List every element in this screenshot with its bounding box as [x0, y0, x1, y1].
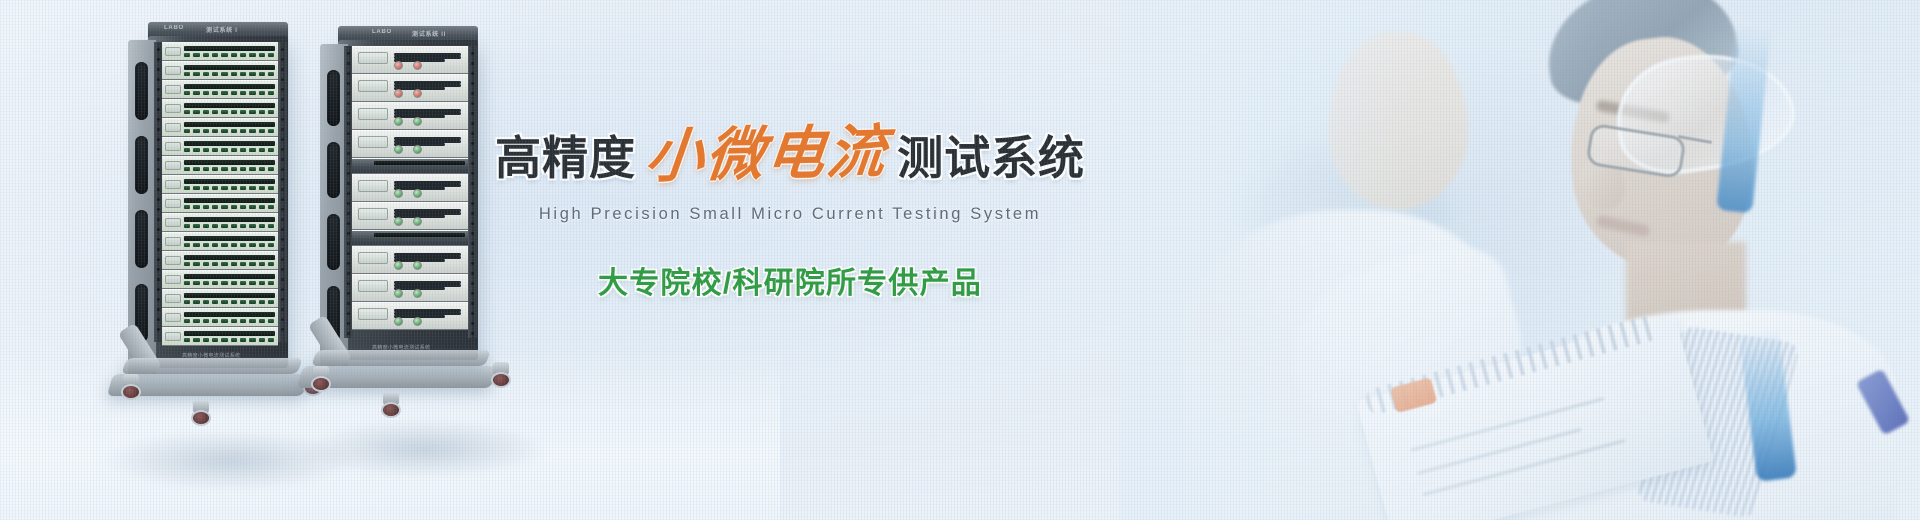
panel-display-strip — [184, 217, 274, 222]
panel-knob-row — [394, 89, 422, 98]
promotional-banner: LABO 测试系统 I — [0, 0, 1920, 520]
rail-hole — [281, 108, 284, 111]
panel-display-strip — [374, 161, 464, 165]
instrument-panel-meter — [352, 46, 468, 74]
rail-hole — [347, 52, 350, 55]
rack-vent-slot — [135, 62, 148, 120]
rail-hole — [281, 218, 284, 221]
rail-hole — [347, 82, 350, 85]
instrument-display-icon — [358, 208, 388, 220]
panel-display-strip — [184, 293, 274, 298]
caster-wheel — [191, 410, 211, 426]
instrument-panel-meter — [352, 74, 468, 102]
instrument-panel-blank — [352, 158, 468, 174]
rail-hole — [281, 128, 284, 131]
rail-hole — [347, 262, 350, 265]
instrument-panel — [162, 251, 278, 270]
instrument-display-icon — [165, 313, 180, 322]
headline-part-2-brush: 小微电流 — [643, 122, 891, 185]
rail-hole — [347, 152, 350, 155]
rail-hole — [347, 172, 350, 175]
rail-hole — [281, 148, 284, 151]
instrument-display-icon — [165, 199, 180, 208]
led-row — [184, 128, 274, 134]
instrument-panel — [162, 289, 278, 308]
panel-knob-row — [394, 117, 422, 126]
rail-hole — [157, 328, 160, 331]
rail-hole — [471, 172, 474, 175]
rail-hole — [281, 98, 284, 101]
banner-headline: 高精度 小微电流 测试系统 — [520, 125, 1060, 183]
instrument-panel-meter — [352, 130, 468, 158]
rail-hole — [157, 88, 160, 91]
rail-hole — [347, 92, 350, 95]
rail-hole — [281, 178, 284, 181]
rack-vent-slot — [327, 214, 340, 270]
rail-hole — [157, 298, 160, 301]
panel-display-strip — [184, 255, 274, 260]
rail-hole — [281, 278, 284, 281]
led-row — [184, 204, 274, 210]
rail-hole — [471, 302, 474, 305]
rail-hole — [281, 88, 284, 91]
instrument-panel — [162, 213, 278, 232]
instrument-panel — [162, 137, 278, 156]
instrument-display-icon — [358, 308, 388, 320]
rail-hole — [471, 152, 474, 155]
instrument-panel — [162, 232, 278, 251]
panel-display-strip — [184, 198, 274, 203]
panel-display-strip — [184, 312, 274, 317]
rail-hole — [347, 112, 350, 115]
rail-hole — [281, 78, 284, 81]
rail-hole — [347, 132, 350, 135]
instrument-display-icon — [358, 280, 388, 292]
rail-hole — [471, 192, 474, 195]
panel-display-strip — [184, 122, 274, 127]
rail-hole — [347, 222, 350, 225]
instrument-display-icon — [165, 218, 180, 227]
caster-wheel-icon — [188, 400, 214, 426]
rail-hole — [157, 208, 160, 211]
banner-text-block: 高精度 小微电流 测试系统 High Precision Small Micro… — [520, 125, 1060, 302]
rail-hole — [281, 288, 284, 291]
caster-wheel — [121, 384, 141, 400]
rail-hole — [471, 292, 474, 295]
rail-hole — [471, 82, 474, 85]
panel-display-strip — [184, 331, 274, 336]
rack-vent-slot — [327, 70, 340, 126]
rail-hole — [281, 328, 284, 331]
led-row — [184, 71, 274, 77]
rack-model-label: 测试系统 II — [412, 29, 446, 38]
rack-right-instruments: LABO 测试系统 II — [320, 26, 478, 436]
rail-hole — [471, 262, 474, 265]
instrument-display-icon — [165, 85, 180, 94]
caster-wheel — [381, 402, 401, 418]
rack-vent-slot — [327, 142, 340, 198]
banner-tagline-green: 大专院校/科研院所专供产品 — [520, 258, 1060, 302]
rail-hole — [471, 242, 474, 245]
instrument-display-icon — [165, 332, 180, 341]
instrument-display-icon — [358, 180, 388, 192]
rail-hole — [347, 232, 350, 235]
rail-hole — [281, 228, 284, 231]
headline-part-1: 高精度 — [495, 135, 636, 181]
instrument-panel — [162, 61, 278, 80]
rail-hole — [157, 258, 160, 261]
instrument-panel — [162, 270, 278, 289]
instrument-panel — [162, 308, 278, 327]
instrument-panel — [162, 327, 278, 346]
rail-hole — [347, 272, 350, 275]
instrument-display-icon — [358, 108, 388, 120]
instrument-display-icon — [165, 237, 180, 246]
rail-hole — [157, 168, 160, 171]
led-row — [184, 147, 274, 153]
rail-hole — [281, 58, 284, 61]
led-row — [184, 90, 274, 96]
rail-hole — [157, 98, 160, 101]
instrument-display-icon — [165, 294, 180, 303]
rail-hole — [347, 242, 350, 245]
instrument-panel — [162, 175, 278, 194]
led-row — [184, 280, 274, 286]
rail-hole — [347, 212, 350, 215]
rail-hole — [157, 48, 160, 51]
panel-display-strip — [184, 65, 274, 70]
panel-display-strip — [184, 103, 274, 108]
panel-knob-row — [394, 317, 422, 326]
rail-hole — [281, 298, 284, 301]
panel-knob-row — [394, 61, 422, 70]
rail-hole — [281, 248, 284, 251]
instrument-display-icon — [165, 142, 180, 151]
instrument-panel-blank — [352, 230, 468, 246]
rail-hole — [471, 212, 474, 215]
rack-mounting-rail — [278, 42, 287, 342]
caster-wheel — [491, 372, 511, 388]
caster-wheel-icon — [308, 366, 334, 392]
panel-knob-row — [394, 289, 422, 298]
caster-wheel-icon — [378, 392, 404, 418]
instrument-panel-meter — [352, 302, 468, 330]
rail-hole — [471, 72, 474, 75]
rail-hole — [347, 72, 350, 75]
panel-display-strip — [374, 233, 464, 237]
rail-hole — [347, 312, 350, 315]
led-row — [184, 337, 274, 343]
rail-hole — [471, 252, 474, 255]
rail-hole — [471, 322, 474, 325]
rail-hole — [157, 198, 160, 201]
rail-hole — [471, 102, 474, 105]
rack-mounting-rail — [468, 46, 477, 338]
led-row — [184, 109, 274, 115]
rail-hole — [281, 258, 284, 261]
panel-knob-row — [394, 145, 422, 154]
rail-hole — [471, 162, 474, 165]
panel-display-strip — [184, 160, 274, 165]
rack-base-rear — [311, 350, 491, 366]
rail-hole — [157, 148, 160, 151]
rail-hole — [157, 288, 160, 291]
rail-hole — [281, 268, 284, 271]
rail-hole — [281, 318, 284, 321]
rail-hole — [471, 132, 474, 135]
rail-hole — [157, 128, 160, 131]
led-row — [184, 185, 274, 191]
instrument-panel-meter — [352, 246, 468, 274]
rail-hole — [281, 208, 284, 211]
rail-hole — [157, 118, 160, 121]
rack-brand-label: LABO — [164, 25, 184, 31]
rail-hole — [157, 318, 160, 321]
rail-hole — [471, 92, 474, 95]
rail-hole — [157, 278, 160, 281]
caster-wheel — [311, 376, 331, 392]
rail-hole — [281, 188, 284, 191]
rail-hole — [347, 192, 350, 195]
instrument-panel — [162, 156, 278, 175]
rail-hole — [347, 332, 350, 335]
rail-hole — [347, 102, 350, 105]
instrument-panel — [162, 99, 278, 118]
rail-hole — [281, 68, 284, 71]
rail-hole — [471, 282, 474, 285]
instrument-display-icon — [358, 136, 388, 148]
panel-display-strip — [184, 141, 274, 146]
rail-hole — [157, 218, 160, 221]
rail-hole — [347, 322, 350, 325]
rail-hole — [157, 228, 160, 231]
rack-model-label: 测试系统 I — [206, 25, 238, 34]
panel-knob-row — [394, 217, 422, 226]
rail-hole — [347, 292, 350, 295]
led-row — [184, 318, 274, 324]
headline-part-3: 测试系统 — [897, 135, 1085, 181]
rail-hole — [471, 202, 474, 205]
rail-hole — [471, 312, 474, 315]
rail-hole — [281, 158, 284, 161]
rail-hole — [157, 138, 160, 141]
rail-hole — [347, 302, 350, 305]
panel-knob-row — [394, 261, 422, 270]
rail-hole — [347, 202, 350, 205]
rail-hole — [157, 248, 160, 251]
rail-hole — [281, 118, 284, 121]
rail-hole — [157, 178, 160, 181]
rail-hole — [347, 182, 350, 185]
rail-hole — [157, 58, 160, 61]
rail-hole — [347, 122, 350, 125]
instrument-panel — [162, 194, 278, 213]
led-row — [184, 242, 274, 248]
rail-hole — [471, 272, 474, 275]
rail-hole — [281, 48, 284, 51]
rail-hole — [347, 162, 350, 165]
rail-hole — [347, 142, 350, 145]
instrument-display-icon — [165, 256, 180, 265]
instrument-display-icon — [165, 66, 180, 75]
rail-hole — [347, 282, 350, 285]
instrument-panel — [162, 80, 278, 99]
instrument-panel-meter — [352, 202, 468, 230]
rail-hole — [157, 158, 160, 161]
rail-hole — [157, 238, 160, 241]
rack-brand-label: LABO — [372, 29, 392, 35]
rail-hole — [471, 122, 474, 125]
panel-display-strip — [184, 236, 274, 241]
rack-vent-slot — [135, 136, 148, 194]
rail-hole — [281, 198, 284, 201]
instrument-panel — [162, 118, 278, 137]
instrument-display-icon — [358, 52, 388, 64]
caster-wheel-icon — [488, 362, 514, 388]
instrument-panel-meter — [352, 102, 468, 130]
rail-hole — [471, 232, 474, 235]
instrument-display-icon — [165, 180, 180, 189]
rack-panel-stack — [162, 42, 278, 346]
rack-vent-slot — [135, 210, 148, 268]
caster-wheel-icon — [118, 374, 144, 400]
led-row — [184, 52, 274, 58]
led-row — [184, 261, 274, 267]
rack-base-rear — [121, 358, 303, 374]
led-row — [184, 166, 274, 172]
panel-display-strip — [184, 179, 274, 184]
rail-hole — [471, 112, 474, 115]
rack-panel-stack — [352, 46, 468, 330]
instrument-display-icon — [358, 252, 388, 264]
rail-hole — [471, 142, 474, 145]
banner-subtitle-english: High Precision Small Micro Current Testi… — [520, 205, 1060, 224]
rail-hole — [281, 138, 284, 141]
rail-hole — [471, 62, 474, 65]
rail-hole — [281, 168, 284, 171]
rail-hole — [157, 308, 160, 311]
rack-left-multichannel: LABO 测试系统 I — [128, 22, 288, 442]
rail-hole — [471, 182, 474, 185]
rail-hole — [347, 252, 350, 255]
rail-hole — [157, 268, 160, 271]
rail-hole — [157, 188, 160, 191]
rail-hole — [347, 62, 350, 65]
rail-hole — [281, 238, 284, 241]
instrument-display-icon — [165, 104, 180, 113]
rail-hole — [157, 68, 160, 71]
led-row — [184, 223, 274, 229]
panel-display-strip — [184, 84, 274, 89]
rail-hole — [471, 52, 474, 55]
lab-scientists-photo — [1120, 0, 1920, 520]
instrument-display-icon — [165, 161, 180, 170]
instrument-panel-meter — [352, 274, 468, 302]
instrument-display-icon — [165, 123, 180, 132]
instrument-panel — [162, 42, 278, 61]
rail-hole — [471, 222, 474, 225]
rail-hole — [471, 332, 474, 335]
panel-knob-row — [394, 189, 422, 198]
panel-display-strip — [184, 46, 274, 51]
rail-hole — [157, 108, 160, 111]
rail-hole — [157, 78, 160, 81]
instrument-display-icon — [358, 80, 388, 92]
panel-display-strip — [184, 274, 274, 279]
instrument-display-icon — [165, 275, 180, 284]
instrument-display-icon — [165, 47, 180, 56]
instrument-panel-meter — [352, 174, 468, 202]
led-row — [184, 299, 274, 305]
rail-hole — [281, 308, 284, 311]
